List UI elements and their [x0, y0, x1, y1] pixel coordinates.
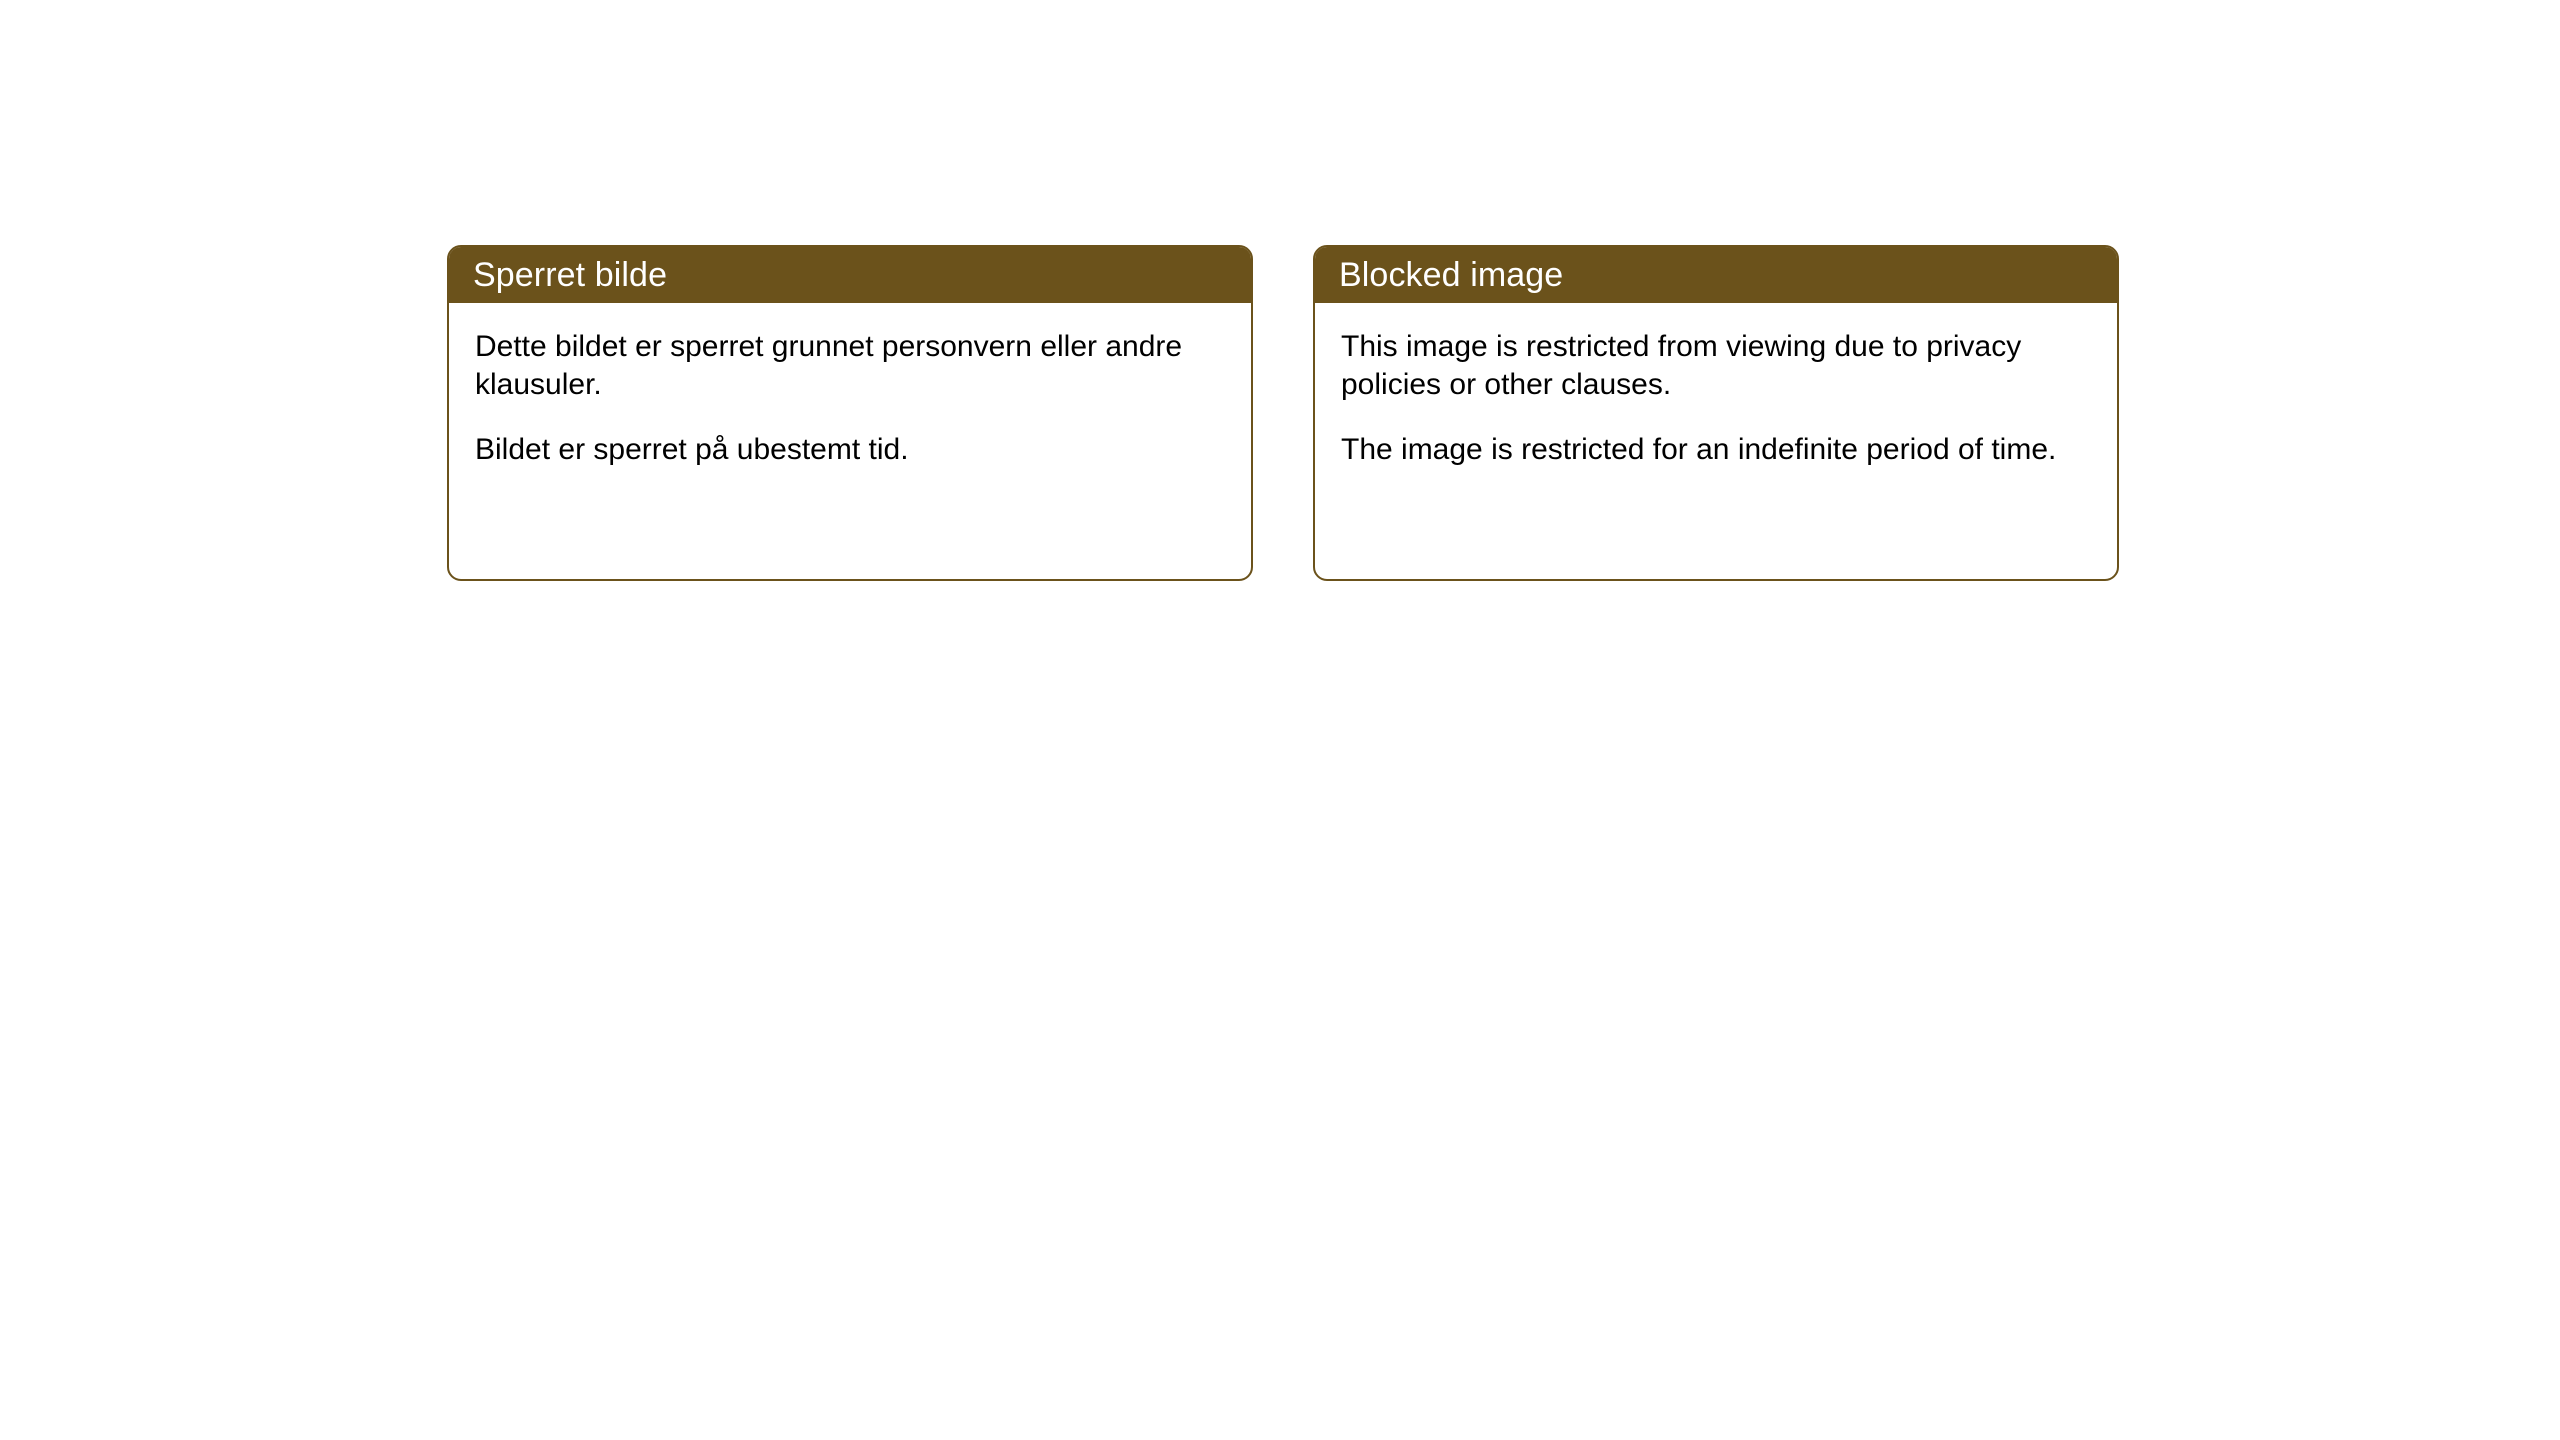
card-paragraph-primary-norwegian: Dette bildet er sperret grunnet personve…	[475, 328, 1225, 404]
blocked-image-card-english: Blocked image This image is restricted f…	[1313, 245, 2119, 581]
blocked-image-card-norwegian: Sperret bilde Dette bildet er sperret gr…	[447, 245, 1253, 581]
page-canvas: Sperret bilde Dette bildet er sperret gr…	[0, 0, 2560, 1440]
card-paragraph-secondary-norwegian: Bildet er sperret på ubestemt tid.	[475, 431, 1225, 469]
card-header-norwegian: Sperret bilde	[449, 247, 1251, 303]
card-body-norwegian: Dette bildet er sperret grunnet personve…	[449, 303, 1251, 469]
card-paragraph-primary-english: This image is restricted from viewing du…	[1341, 328, 2091, 404]
card-header-english: Blocked image	[1315, 247, 2117, 303]
card-title-english: Blocked image	[1339, 258, 1563, 292]
card-title-norwegian: Sperret bilde	[473, 258, 667, 292]
card-body-english: This image is restricted from viewing du…	[1315, 303, 2117, 469]
card-paragraph-secondary-english: The image is restricted for an indefinit…	[1341, 431, 2091, 469]
